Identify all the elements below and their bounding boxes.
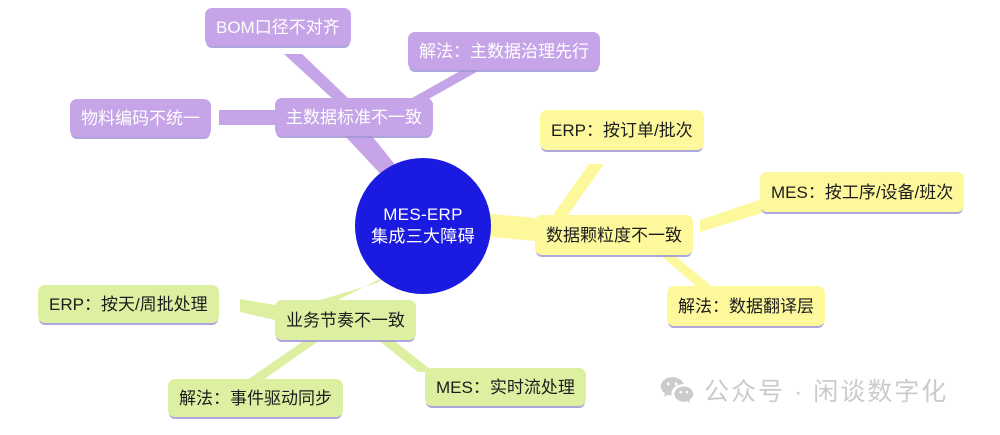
root-node[interactable]: MES-ERP 集成三大障碍 (355, 158, 491, 294)
child-node-solution-translation-layer-label: 解法：数据翻译层 (678, 298, 814, 315)
connector-master-data-to-bom (284, 54, 348, 101)
connector-master-data-to-solution (412, 70, 480, 101)
child-node-mes-process-equip-shift-label: MES：按工序/设备/班次 (771, 184, 953, 201)
connector-business-rhythm-to-erp (240, 299, 275, 320)
mindmap-canvas: MES-ERP 集成三大障碍 主数据标准不一致 BOM口径不对齐 物料编码不统一… (0, 0, 1000, 435)
watermark-text: 公众号 · 闲谈数字化 (704, 372, 948, 408)
child-node-bom[interactable]: BOM口径不对齐 (205, 8, 351, 46)
root-node-line-2: 集成三大障碍 (371, 226, 475, 248)
connector-master-data-to-material-code (219, 110, 275, 125)
wechat-icon (660, 376, 694, 404)
branch-node-business-rhythm[interactable]: 业务节奏不一致 (275, 300, 416, 340)
child-node-erp-order-batch-label: ERP：按订单/批次 (551, 122, 693, 139)
connector-granularity-to-mes (700, 199, 762, 232)
root-node-line-1: MES-ERP (383, 204, 463, 226)
child-node-mes-realtime-stream[interactable]: MES：实时流处理 (425, 368, 586, 406)
child-node-solution-event-driven-label: 解法：事件驱动同步 (179, 390, 332, 407)
branch-node-master-data[interactable]: 主数据标准不一致 (275, 98, 433, 136)
branch-node-business-rhythm-label: 业务节奏不一致 (286, 312, 405, 329)
child-node-erp-daily-weekly-label: ERP：按天/周批处理 (49, 296, 208, 313)
child-node-solution-event-driven[interactable]: 解法：事件驱动同步 (168, 379, 343, 417)
child-node-material-code[interactable]: 物料编码不统一 (70, 99, 211, 137)
branch-node-master-data-label: 主数据标准不一致 (286, 109, 422, 126)
child-node-bom-label: BOM口径不对齐 (216, 19, 340, 36)
child-node-solution-translation-layer[interactable]: 解法：数据翻译层 (667, 286, 825, 326)
branch-node-granularity[interactable]: 数据颗粒度不一致 (535, 215, 693, 255)
watermark: 公众号 · 闲谈数字化 (660, 372, 948, 408)
child-node-mes-realtime-stream-label: MES：实时流处理 (436, 379, 575, 396)
child-node-mes-process-equip-shift[interactable]: MES：按工序/设备/班次 (760, 172, 964, 212)
connector-business-rhythm-to-mes (378, 340, 434, 372)
connector-business-rhythm-to-solution (247, 340, 320, 380)
child-node-material-code-label: 物料编码不统一 (81, 110, 200, 127)
child-node-solution-master-data-label: 解法：主数据治理先行 (419, 43, 589, 60)
child-node-erp-daily-weekly[interactable]: ERP：按天/周批处理 (38, 285, 219, 323)
connector-granularity-to-erp (553, 164, 604, 215)
child-node-erp-order-batch[interactable]: ERP：按订单/批次 (540, 110, 704, 150)
branch-node-granularity-label: 数据颗粒度不一致 (546, 227, 682, 244)
connector-granularity-to-solution (660, 255, 715, 289)
child-node-solution-master-data[interactable]: 解法：主数据治理先行 (408, 32, 600, 70)
